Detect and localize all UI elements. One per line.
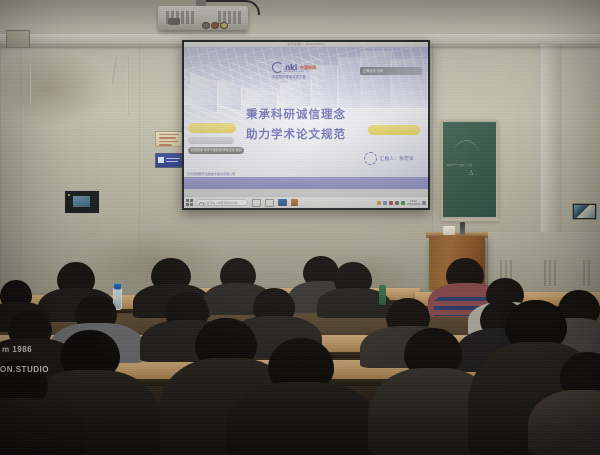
chalkboard-writing-2: Δ xyxy=(469,170,473,177)
slide-footer-note: 同方知网数字出版技术股份有限公司 xyxy=(187,172,235,176)
presenter-name: 汇报人：张宏军 xyxy=(380,156,414,162)
conduit-pipe xyxy=(127,56,129,114)
wall-mounted-monitor xyxy=(572,203,597,220)
cnki-url: www.cnki.net xyxy=(284,70,304,73)
notification-center-icon[interactable] xyxy=(422,201,426,205)
conduit-pipe xyxy=(30,62,32,104)
paper-cup xyxy=(443,226,455,235)
slide-pill-gray xyxy=(188,137,234,144)
lecture-hall-photo: ms-θ (ŋx)·(x) Δ 演示文稿1 - PowerPoint xyxy=(0,0,600,455)
projector-lens xyxy=(168,18,180,25)
electrical-box xyxy=(6,30,30,48)
wall-notice-poster xyxy=(155,131,184,147)
jacket-print-line-2: ON.STUDIO xyxy=(0,365,49,374)
water-bottle-green xyxy=(379,285,386,305)
slide-top-right-label: 正确使用 知网 xyxy=(360,67,422,75)
system-tray: 15:42 2019/12/18 xyxy=(377,200,428,206)
chalk-tray xyxy=(441,219,500,223)
task-view-icon[interactable] xyxy=(252,199,261,207)
taskbar-app-powerpoint[interactable] xyxy=(278,199,287,206)
wall-info-sign xyxy=(155,153,184,168)
jacket-print-line-1: m 1986 xyxy=(2,345,32,354)
tray-icon-volume[interactable] xyxy=(395,201,399,205)
cortana-icon[interactable] xyxy=(265,199,274,207)
slide-pill-yellow-left xyxy=(188,123,236,133)
presentation-slide: nki 中国知网 www.cnki.net 中国知识基础设施工程 正确使用 知网… xyxy=(184,47,428,189)
projection-screen: 演示文稿1 - PowerPoint nki 中国知网 xyxy=(182,40,430,210)
wall-seam xyxy=(0,44,1,284)
tray-icon-shield[interactable] xyxy=(377,201,381,205)
wall-pilaster xyxy=(540,44,562,244)
av-control-panel[interactable] xyxy=(64,190,100,214)
wall-seam xyxy=(139,44,140,259)
tray-icon-ime[interactable] xyxy=(401,201,405,205)
wall-seam xyxy=(432,44,433,244)
panel-led-icon xyxy=(68,194,70,196)
bottle-cap xyxy=(113,283,122,290)
wall-seam xyxy=(20,44,21,284)
chalkboard: ms-θ (ŋx)·(x) Δ xyxy=(441,120,498,219)
slide-footer-band xyxy=(184,177,428,189)
cnki-logo: nki 中国知网 www.cnki.net xyxy=(272,60,344,75)
taskbar-clock-date[interactable]: 2019/12/18 xyxy=(407,203,420,206)
slide-pill-dark: 知网研学 学术不端检测 学位论文 培训 xyxy=(188,147,244,154)
presenter-ring-icon xyxy=(364,152,377,165)
taskbar-search-input[interactable]: 在这里输入你要搜索的内容 xyxy=(196,199,248,206)
tray-icon-network[interactable] xyxy=(383,201,387,205)
chalk-arc-drawing xyxy=(453,140,479,157)
chalkboard-writing: ms-θ (ŋx)·(x) xyxy=(447,162,472,167)
taskbar-app-explorer[interactable] xyxy=(291,199,298,206)
windows-taskbar: 在这里输入你要搜索的内容 15:42 2019/12/18 xyxy=(184,196,428,208)
slide-title-line-1: 秉承科研诚信理念 xyxy=(246,107,376,124)
panel-display xyxy=(73,196,90,207)
tray-icon-security[interactable] xyxy=(389,201,393,205)
slide-title-line-2: 助力学术论文规范 xyxy=(246,127,376,144)
start-button-icon[interactable] xyxy=(186,199,193,206)
presenter-block: 汇报人：张宏军 xyxy=(364,152,414,165)
cnki-subtitle: 中国知识基础设施工程 xyxy=(272,74,350,79)
cnki-ring-icon xyxy=(272,62,283,73)
water-bottle-podium xyxy=(460,222,465,235)
